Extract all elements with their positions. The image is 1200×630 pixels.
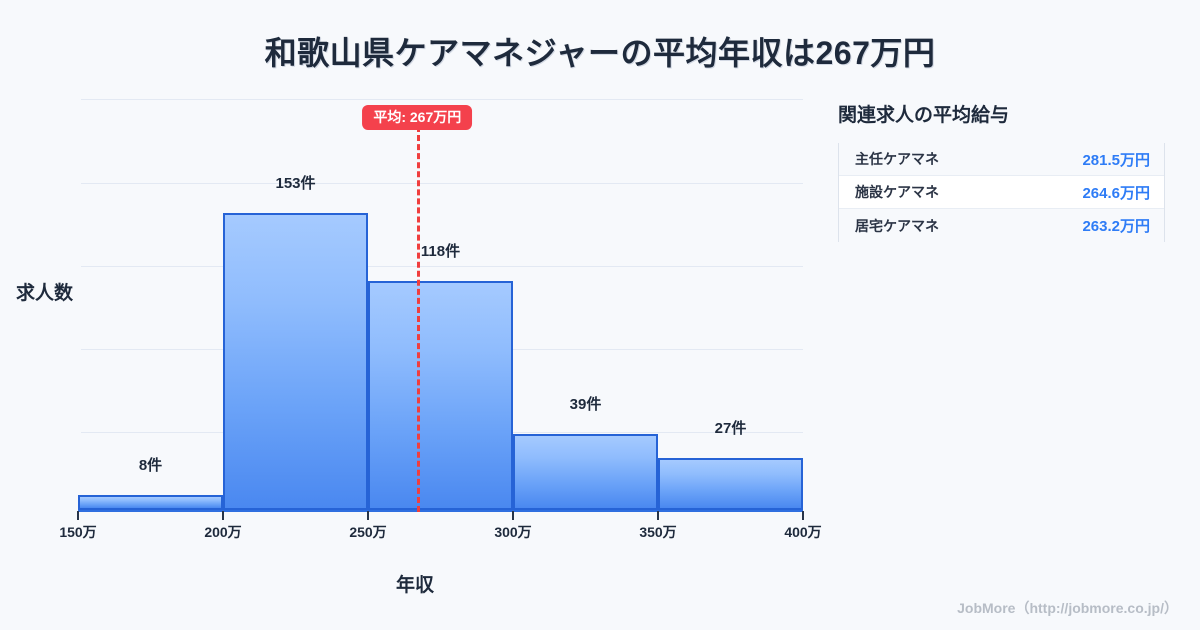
histogram-bar xyxy=(368,281,513,510)
histogram-bar xyxy=(223,213,368,510)
x-tick-mark xyxy=(657,511,659,520)
salary-row-name: 居宅ケアマネ xyxy=(855,216,939,236)
salary-row: 施設ケアマネ264.6万円 xyxy=(839,176,1164,209)
related-salary-panel: 関連求人の平均給与 主任ケアマネ281.5万円施設ケアマネ264.6万円居宅ケア… xyxy=(838,100,1168,242)
salary-row-value: 281.5万円 xyxy=(1082,149,1150,170)
histogram-bar xyxy=(658,458,803,510)
salary-row-name: 主任ケアマネ xyxy=(855,149,939,169)
salary-row: 居宅ケアマネ263.2万円 xyxy=(839,209,1164,242)
bar-value-label: 118件 xyxy=(368,240,513,261)
plot-area: 8件153件118件39件27件 xyxy=(78,99,803,510)
y-axis-title: 求人数 xyxy=(16,278,73,305)
average-line xyxy=(417,126,420,512)
salary-row-value: 264.6万円 xyxy=(1082,182,1150,203)
salary-row-name: 施設ケアマネ xyxy=(855,182,939,202)
x-tick-label: 150万 xyxy=(59,522,96,542)
x-axis-line xyxy=(78,510,803,512)
related-salary-table: 主任ケアマネ281.5万円施設ケアマネ264.6万円居宅ケアマネ263.2万円 xyxy=(838,143,1165,242)
x-axis-title: 年収 xyxy=(0,570,830,597)
x-tick-mark xyxy=(367,511,369,520)
salary-row: 主任ケアマネ281.5万円 xyxy=(839,143,1164,176)
x-tick-label: 350万 xyxy=(639,522,676,542)
related-salary-title: 関連求人の平均給与 xyxy=(838,100,1168,127)
bar-value-label: 27件 xyxy=(658,417,803,438)
histogram-bar xyxy=(513,434,658,510)
bar-value-label: 39件 xyxy=(513,393,658,414)
x-tick-label: 200万 xyxy=(204,522,241,542)
x-tick-mark xyxy=(512,511,514,520)
x-tick-label: 250万 xyxy=(349,522,386,542)
footer-credit: JobMore（http://jobmore.co.jp/） xyxy=(957,598,1178,618)
histogram-chart: 求人数 8件153件118件39件27件 150万200万250万300万350… xyxy=(0,0,830,630)
x-tick-mark xyxy=(222,511,224,520)
average-badge: 平均: 267万円 xyxy=(362,105,472,130)
salary-row-value: 263.2万円 xyxy=(1082,215,1150,236)
x-tick-label: 300万 xyxy=(494,522,531,542)
histogram-bar xyxy=(78,495,223,511)
chart-page: 和歌山県ケアマネジャーの平均年収は267万円 求人数 8件153件118件39件… xyxy=(0,0,1200,630)
bar-value-label: 8件 xyxy=(78,454,223,475)
x-tick-mark xyxy=(802,511,804,520)
x-tick-mark xyxy=(77,511,79,520)
bar-value-label: 153件 xyxy=(223,172,368,193)
x-tick-label: 400万 xyxy=(784,522,821,542)
